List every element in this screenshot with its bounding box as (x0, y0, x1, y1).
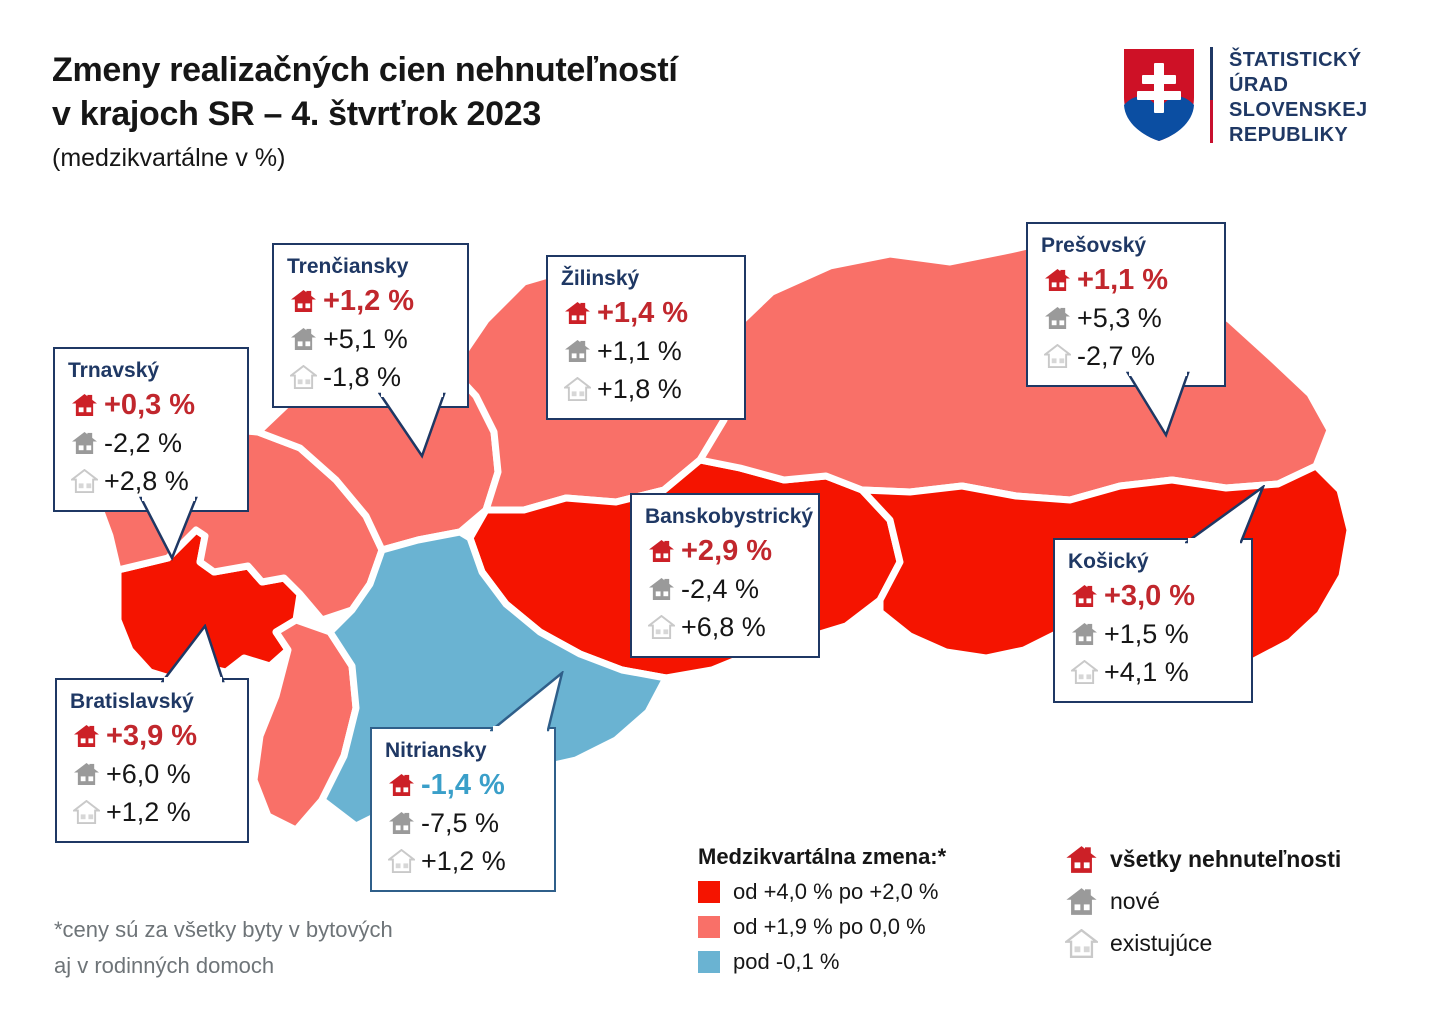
callout-row-all-kosicky: +3,0 % (1068, 577, 1237, 615)
legend-swatch-high (698, 881, 720, 903)
house-new-icon (68, 431, 100, 455)
legend-icon-item-new[interactable]: nové (1062, 880, 1341, 922)
callout-value-all-banskobystricky: +2,9 % (681, 536, 772, 566)
house-new-icon (1062, 887, 1100, 916)
slovak-coat-of-arms-icon (1122, 47, 1196, 143)
house-existing-icon (1068, 660, 1100, 684)
callout-title-trnavsky: Trnavský (68, 357, 233, 384)
slovakia-map: Trnavský +0,3 % -2,2 % +2,8 % Trenčiansk… (0, 180, 1437, 900)
callout-title-zilinsky: Žilinský (561, 265, 730, 292)
house-all-icon (68, 393, 100, 417)
legend-icon-label-existing: existujúce (1110, 930, 1212, 957)
callout-value-existing-kosicky: +4,1 % (1104, 657, 1189, 687)
legend-color-scale: Medzikvartálna zmena:* od +4,0 % po +2,0… (698, 840, 946, 979)
statistical-office-logo: ŠTATISTICKÝ ÚRAD SLOVENSKEJ REPUBLIKY (1122, 47, 1367, 148)
callout-value-existing-trenciansky: -1,8 % (323, 362, 401, 392)
callout-value-all-trnavsky: +0,3 % (104, 390, 195, 420)
callout-row-all-banskobystricky: +2,9 % (645, 532, 804, 570)
callout-value-all-bratislavsky: +3,9 % (106, 721, 197, 751)
callout-title-trenciansky: Trenčiansky (287, 253, 453, 280)
callout-row-existing-presovsky: -2,7 % (1041, 337, 1210, 375)
callout-row-existing-trnavsky: +2,8 % (68, 462, 233, 500)
callout-banskobystricky[interactable]: Banskobystrický +2,9 % -2,4 % +6,8 % (630, 493, 820, 658)
callout-row-new-trenciansky: +5,1 % (287, 320, 453, 358)
house-existing-icon (287, 365, 319, 389)
house-existing-icon (1062, 929, 1100, 958)
callout-value-all-nitriansky: -1,4 % (421, 770, 505, 800)
callout-row-all-presovsky: +1,1 % (1041, 261, 1210, 299)
legend-icon-item-existing[interactable]: existujúce (1062, 922, 1341, 964)
callout-row-new-zilinsky: +1,1 % (561, 332, 730, 370)
callout-row-existing-banskobystricky: +6,8 % (645, 608, 804, 646)
house-all-icon (385, 773, 417, 797)
footnote: *ceny sú za všetky byty v bytových aj v … (54, 912, 393, 984)
callout-value-existing-bratislavsky: +1,2 % (106, 797, 191, 827)
legend-scale-item-mid[interactable]: od +1,9 % po 0,0 % (698, 909, 946, 944)
callout-tail-kosicky (1185, 485, 1265, 545)
header: Zmeny realizačných cien nehnuteľností v … (0, 0, 1437, 195)
callout-tail-trnavsky (139, 496, 199, 566)
callout-trnavsky[interactable]: Trnavský +0,3 % -2,2 % +2,8 % (53, 347, 249, 512)
house-new-icon (645, 577, 677, 601)
legend-scale-label-high: od +4,0 % po +2,0 % (733, 879, 939, 905)
footnote-line2: aj v rodinných domoch (54, 948, 393, 984)
callout-row-all-nitriansky: -1,4 % (385, 766, 540, 804)
callout-row-new-bratislavsky: +6,0 % (70, 755, 233, 793)
legend-scale-item-high[interactable]: od +4,0 % po +2,0 % (698, 874, 946, 909)
callout-kosicky[interactable]: Košický +3,0 % +1,5 % +4,1 % (1053, 538, 1253, 703)
logo-text: ŠTATISTICKÝ ÚRAD SLOVENSKEJ REPUBLIKY (1229, 47, 1367, 148)
callout-value-new-banskobystricky: -2,4 % (681, 574, 759, 604)
callout-row-new-banskobystricky: -2,4 % (645, 570, 804, 608)
house-new-icon (561, 339, 593, 363)
house-all-icon (1041, 268, 1073, 292)
callout-value-all-kosicky: +3,0 % (1104, 581, 1195, 611)
callout-row-new-nitriansky: -7,5 % (385, 804, 540, 842)
house-new-icon (1068, 622, 1100, 646)
callout-value-existing-zilinsky: +1,8 % (597, 374, 682, 404)
callout-trenciansky[interactable]: Trenčiansky +1,2 % +5,1 % -1,8 % (272, 243, 469, 408)
callout-value-all-zilinsky: +1,4 % (597, 298, 688, 328)
logo-divider (1210, 47, 1213, 143)
callout-bratislavsky[interactable]: Bratislavský +3,9 % +6,0 % +1,2 % (55, 678, 249, 843)
legend-scale-label-low: pod -0,1 % (733, 949, 839, 975)
logo-text-line1: ŠTATISTICKÝ (1229, 48, 1367, 73)
house-existing-icon (645, 615, 677, 639)
house-existing-icon (561, 377, 593, 401)
page-title-line1: Zmeny realizačných cien nehnuteľností (52, 48, 678, 92)
house-all-icon (70, 724, 102, 748)
callout-row-new-trnavsky: -2,2 % (68, 424, 233, 462)
house-all-icon (1068, 584, 1100, 608)
footnote-line1: *ceny sú za všetky byty v bytových (54, 912, 393, 948)
house-all-icon (561, 301, 593, 325)
callout-value-new-nitriansky: -7,5 % (421, 808, 499, 838)
callout-value-all-trenciansky: +1,2 % (323, 286, 414, 316)
callout-row-new-presovsky: +5,3 % (1041, 299, 1210, 337)
callout-value-new-bratislavsky: +6,0 % (106, 759, 191, 789)
house-new-icon (287, 327, 319, 351)
house-existing-icon (1041, 344, 1073, 368)
callout-value-existing-trnavsky: +2,8 % (104, 466, 189, 496)
callout-value-new-kosicky: +1,5 % (1104, 619, 1189, 649)
house-new-icon (385, 811, 417, 835)
callout-row-new-kosicky: +1,5 % (1068, 615, 1237, 653)
logo-text-line2: ÚRAD (1229, 73, 1367, 98)
callout-row-existing-bratislavsky: +1,2 % (70, 793, 233, 831)
callout-value-existing-presovsky: -2,7 % (1077, 341, 1155, 371)
house-existing-icon (385, 849, 417, 873)
callout-tail-trenciansky (378, 392, 448, 464)
callout-row-existing-nitriansky: +1,2 % (385, 842, 540, 880)
callout-value-existing-nitriansky: +1,2 % (421, 846, 506, 876)
legend-icon-label-all: všetky nehnuteľnosti (1110, 846, 1341, 873)
callout-presovsky[interactable]: Prešovský +1,1 % +5,3 % -2,7 % (1026, 222, 1226, 387)
legend-swatch-mid (698, 916, 720, 938)
house-existing-icon (70, 800, 102, 824)
callout-value-existing-banskobystricky: +6,8 % (681, 612, 766, 642)
callout-title-banskobystricky: Banskobystrický (645, 503, 804, 530)
callout-title-presovsky: Prešovský (1041, 232, 1210, 259)
house-all-icon (1062, 845, 1100, 874)
house-new-icon (1041, 306, 1073, 330)
page-title-line2: v krajoch SR – 4. štvrťrok 2023 (52, 92, 678, 136)
callout-title-kosicky: Košický (1068, 548, 1237, 575)
callout-row-all-zilinsky: +1,4 % (561, 294, 730, 332)
house-all-icon (645, 539, 677, 563)
callout-zilinsky[interactable]: Žilinský +1,4 % +1,1 % +1,8 % (546, 255, 746, 420)
callout-title-nitriansky: Nitriansky (385, 737, 540, 764)
legend-scale-label-mid: od +1,9 % po 0,0 % (733, 914, 926, 940)
callout-value-new-presovsky: +5,3 % (1077, 303, 1162, 333)
callout-tail-bratislavsky (161, 624, 227, 684)
callout-nitriansky[interactable]: Nitriansky -1,4 % -7,5 % +1,2 % (370, 727, 556, 892)
callout-row-all-bratislavsky: +3,9 % (70, 717, 233, 755)
callout-row-all-trenciansky: +1,2 % (287, 282, 453, 320)
legend-icon-types: všetky nehnuteľnosti nové existujúce (1062, 838, 1341, 964)
title-block: Zmeny realizačných cien nehnuteľností v … (52, 48, 678, 176)
logo-text-line4: REPUBLIKY (1229, 123, 1367, 148)
callout-row-existing-trenciansky: -1,8 % (287, 358, 453, 396)
callout-tail-nitriansky (490, 671, 566, 733)
callout-tail-presovsky (1126, 371, 1192, 443)
callout-row-all-trnavsky: +0,3 % (68, 386, 233, 424)
legend-swatch-low (698, 951, 720, 973)
callout-value-all-presovsky: +1,1 % (1077, 265, 1168, 295)
legend-icon-item-all[interactable]: všetky nehnuteľnosti (1062, 838, 1341, 880)
callout-value-new-trenciansky: +5,1 % (323, 324, 408, 354)
page-subtitle: (medzikvartálne v %) (52, 140, 678, 176)
legend-icon-label-new: nové (1110, 888, 1160, 915)
house-all-icon (287, 289, 319, 313)
legend-scale-item-low[interactable]: pod -0,1 % (698, 944, 946, 979)
callout-title-bratislavsky: Bratislavský (70, 688, 233, 715)
callout-row-existing-zilinsky: +1,8 % (561, 370, 730, 408)
legend-scale-title: Medzikvartálna zmena:* (698, 840, 946, 874)
callout-row-existing-kosicky: +4,1 % (1068, 653, 1237, 691)
logo-text-line3: SLOVENSKEJ (1229, 98, 1367, 123)
house-existing-icon (68, 469, 100, 493)
house-new-icon (70, 762, 102, 786)
callout-value-new-zilinsky: +1,1 % (597, 336, 682, 366)
callout-value-new-trnavsky: -2,2 % (104, 428, 182, 458)
region-presovsky[interactable] (700, 236, 1330, 500)
